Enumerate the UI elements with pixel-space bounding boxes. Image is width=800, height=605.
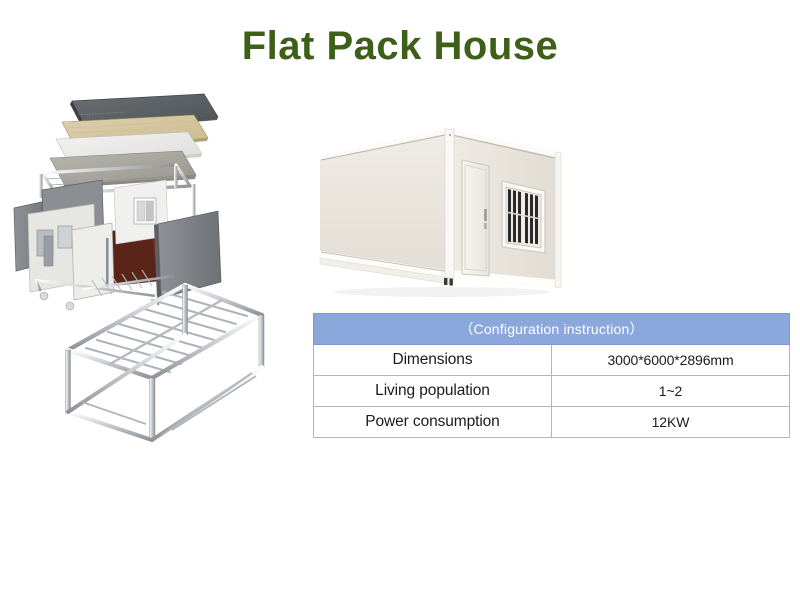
row-label-dimensions: Dimensions bbox=[314, 345, 552, 376]
row-value-living-population: 1~2 bbox=[552, 376, 790, 407]
part-corner-posts bbox=[66, 285, 265, 440]
page-title: Flat Pack House bbox=[0, 24, 800, 68]
door-handle bbox=[484, 209, 487, 221]
row-label-power-consumption: Power consumption bbox=[314, 407, 552, 438]
flat-pack-container-house-photo bbox=[312, 108, 604, 308]
table-row: Dimensions 3000*6000*2896mm bbox=[314, 345, 790, 376]
row-label-living-population: Living population bbox=[314, 376, 552, 407]
configuration-table: （Configuration instruction） Dimensions 3… bbox=[313, 313, 790, 438]
row-value-dimensions: 3000*6000*2896mm bbox=[552, 345, 790, 376]
table-row: Power consumption 12KW bbox=[314, 407, 790, 438]
table-header-row: （Configuration instruction） bbox=[314, 314, 790, 345]
part-barred-window bbox=[502, 181, 545, 253]
steel-base-frame-diagram bbox=[22, 278, 272, 473]
table-row: Living population 1~2 bbox=[314, 376, 790, 407]
part-entry-door bbox=[462, 160, 489, 276]
table-header-cell: （Configuration instruction） bbox=[314, 314, 790, 345]
part-right-post bbox=[555, 152, 561, 288]
part-side-wall bbox=[320, 129, 451, 278]
part-mid-rail bbox=[110, 300, 222, 364]
row-value-power-consumption: 12KW bbox=[552, 407, 790, 438]
part-corner-post bbox=[445, 129, 454, 279]
part-ground-shadow bbox=[334, 287, 550, 297]
